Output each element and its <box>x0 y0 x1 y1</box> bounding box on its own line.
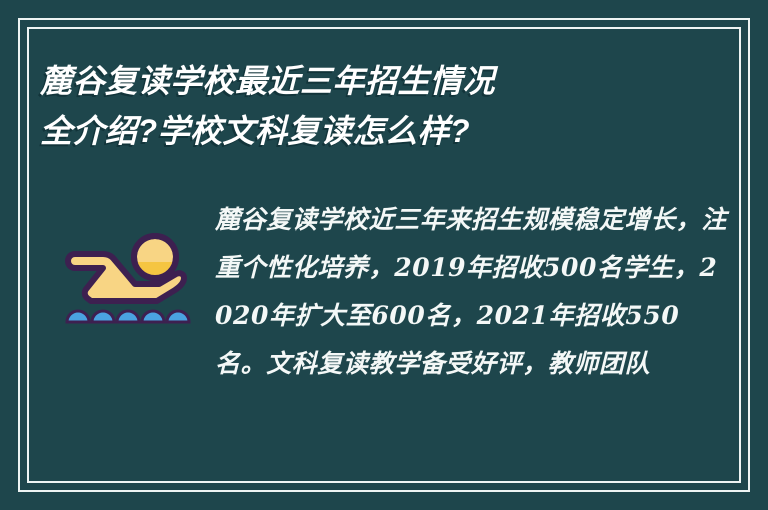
water-waves-icon <box>67 311 189 322</box>
icon-container <box>40 196 215 328</box>
content-area: 麓谷复读学校近三年来招生规模稳定增长，注重个性化培养，2019年招收500名学生… <box>40 196 734 470</box>
headline-line-2: 全介绍?学校文科复读怎么样? <box>40 106 730 156</box>
headline: 麓谷复读学校最近三年招生情况 全介绍?学校文科复读怎么样? <box>40 56 730 156</box>
body-paragraph: 麓谷复读学校近三年来招生规模稳定增长，注重个性化培养，2019年招收500名学生… <box>215 196 734 388</box>
swimmer-icon <box>65 230 191 328</box>
poster-canvas: 麓谷复读学校最近三年招生情况 全介绍?学校文科复读怎么样? <box>0 0 768 510</box>
headline-line-1: 麓谷复读学校最近三年招生情况 <box>40 56 730 106</box>
